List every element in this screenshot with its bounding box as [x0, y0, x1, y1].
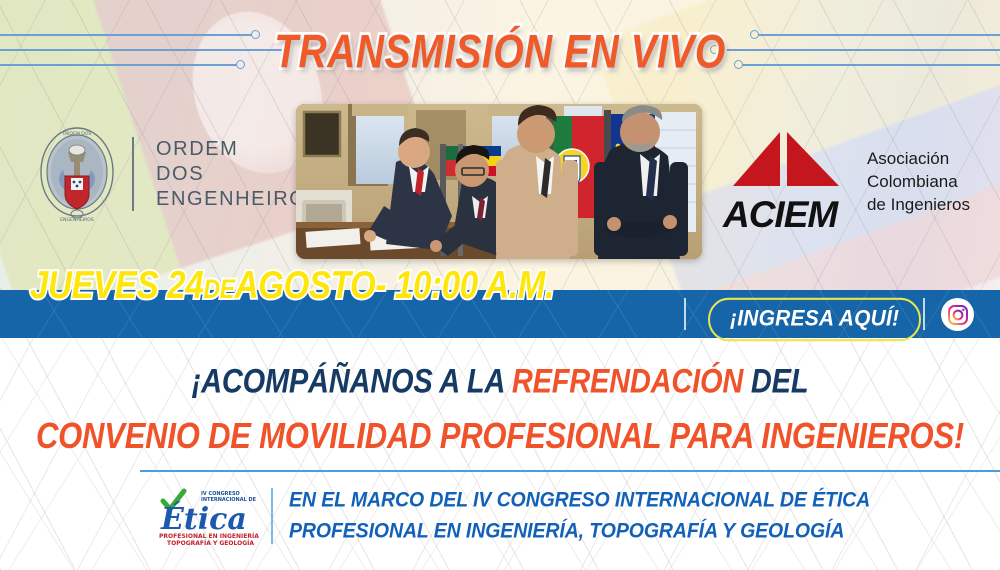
aciem-line-3: de Ingenieros: [867, 193, 970, 216]
event-de: DE: [203, 273, 234, 304]
event-date-text: JUEVES 24DEAGOSTO- 10:00 A.M.: [30, 263, 554, 308]
date-bar-separator-1: [684, 298, 686, 330]
svg-text:ENGENHEIROS: ENGENHEIROS: [60, 217, 94, 222]
signing-ceremony-photo: [296, 104, 702, 259]
aciem-logo: ACIEM Asociación Colombiana de Ingeniero…: [723, 130, 970, 232]
headline-part-2: REFRENDACIÓN: [512, 363, 743, 401]
live-broadcast-banner: TRANSMISIÓN EN VIVO ORDEM DOS ENGENHEIR: [0, 0, 1000, 570]
footer-line-1: EN EL MARCO DEL IV CONGRESO INTERNACIONA…: [289, 483, 870, 517]
aciem-wordmark: ACIEM: [723, 198, 849, 232]
footer-line-2: PROFESIONAL EN INGENIERÍA, TOPOGRAFÍA Y …: [289, 514, 870, 548]
svg-text:Ética: Ética: [160, 501, 247, 537]
ordem-logo-divider: [132, 137, 134, 211]
live-broadcast-title: TRANSMISIÓN EN VIVO: [0, 26, 1000, 80]
instagram-icon[interactable]: [941, 298, 974, 331]
svg-text:PROFESIONAL EN INGENIERÍA,: PROFESIONAL EN INGENIERÍA,: [159, 532, 259, 540]
svg-text:TOPOGRAFÍA Y GEOLOGÍA: TOPOGRAFÍA Y GEOLOGÍA: [167, 539, 254, 547]
etica-congress-logo: IV CONGRESO INTERNACIONAL DE Ética PROFE…: [155, 485, 259, 547]
date-bar-separator-2: [923, 298, 925, 330]
event-day: JUEVES 24: [30, 263, 203, 307]
headline-part-1: ¡ACOMPÁÑANOS A LA: [192, 363, 512, 401]
footer-divider: [271, 488, 273, 544]
headline-part-3: DEL: [743, 363, 808, 401]
aciem-text: Asociación Colombiana de Ingenieros: [867, 147, 970, 216]
aciem-sails-icon: [723, 130, 849, 196]
svg-text:ORDEM DOS: ORDEM DOS: [63, 131, 92, 137]
ordem-seal-icon: ORDEM DOS ENGENHEIROS: [38, 126, 116, 222]
footer-divider-rule: [140, 470, 1000, 472]
footer-text: EN EL MARCO DEL IV CONGRESO INTERNACIONA…: [289, 485, 870, 547]
ordem-dos-engenheiros-logo: ORDEM DOS ENGENHEIROS ORDEM DOS ENGENHEI…: [38, 126, 321, 222]
headline-line-1: ¡ACOMPÁÑANOS A LA REFRENDACIÓN DEL: [0, 356, 1000, 408]
headline-line-2: CONVENIO DE MOVILIDAD PROFESIONAL PARA I…: [0, 409, 1000, 463]
event-month: AGOSTO: [235, 263, 376, 307]
footer-block: IV CONGRESO INTERNACIONAL DE Ética PROFE…: [155, 485, 870, 547]
aciem-line-1: Asociación: [867, 147, 970, 170]
enter-here-button[interactable]: ¡INGRESA AQUÍ!: [708, 298, 921, 341]
aciem-mark: ACIEM: [723, 130, 849, 232]
main-headline: ¡ACOMPÁÑANOS A LA REFRENDACIÓN DEL CONVE…: [0, 360, 1000, 459]
aciem-line-2: Colombiana: [867, 170, 970, 193]
event-time: - 10:00 A.M.: [375, 263, 554, 307]
